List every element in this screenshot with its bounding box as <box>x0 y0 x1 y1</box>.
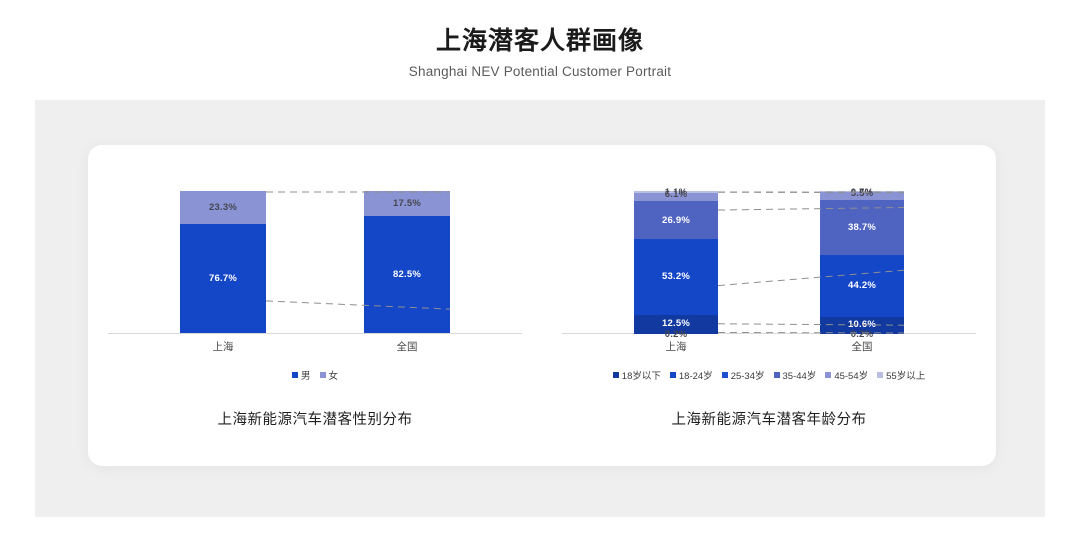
legend-item-18-24岁[interactable]: 18-24岁 <box>670 368 713 382</box>
segment-45-54岁[interactable]: 6.1% <box>634 193 718 202</box>
segment-value-label: 5.5% <box>851 189 873 199</box>
category-label-全国: 全国 <box>820 339 904 354</box>
segment-value-label: 53.2% <box>662 272 690 282</box>
connector-lines <box>100 191 530 335</box>
legend-label: 男 <box>301 368 311 382</box>
plot-area-age: 1.1%6.1%26.9%53.2%12.5%0.2%0.7%5.5%38.7%… <box>554 191 984 334</box>
legend-label: 18岁以下 <box>622 368 661 382</box>
page-subtitle: Shanghai NEV Potential Customer Portrait <box>0 64 1080 79</box>
category-labels: 上海全国 <box>100 339 530 359</box>
legend-label: 45-54岁 <box>834 368 868 382</box>
page-title: 上海潜客人群画像 <box>0 26 1080 57</box>
charts-card: 23.3%76.7%17.5%82.5%上海全国男女上海新能源汽车潜客性别分布1… <box>88 145 996 466</box>
chart-gender: 23.3%76.7%17.5%82.5%上海全国男女上海新能源汽车潜客性别分布 <box>88 145 542 466</box>
legend-item-25-34岁[interactable]: 25-34岁 <box>722 368 765 382</box>
legend-swatch-icon <box>825 372 831 378</box>
page-header: 上海潜客人群画像 Shanghai NEV Potential Customer… <box>0 0 1080 79</box>
legend-label: 55岁以上 <box>886 368 925 382</box>
segment-男[interactable]: 82.5% <box>364 216 450 333</box>
chart-age: 1.1%6.1%26.9%53.2%12.5%0.2%0.7%5.5%38.7%… <box>542 145 996 466</box>
legend-swatch-icon <box>877 372 883 378</box>
legend-item-45-54岁[interactable]: 45-54岁 <box>825 368 868 382</box>
stacked-bar-gender-全国[interactable]: 17.5%82.5% <box>364 191 450 333</box>
legend-item-18岁以下[interactable]: 18岁以下 <box>613 368 661 382</box>
chart-caption-gender: 上海新能源汽车潜客性别分布 <box>218 408 413 429</box>
chart-caption-age: 上海新能源汽车潜客年龄分布 <box>672 408 867 429</box>
stacked-bar-age-上海[interactable]: 1.1%6.1%26.9%53.2%12.5%0.2% <box>634 191 718 333</box>
legend-label: 35-44岁 <box>783 368 817 382</box>
legend-swatch-icon <box>613 372 619 378</box>
segment-25-34岁[interactable]: 53.2% <box>634 239 718 315</box>
connector-lines <box>554 191 984 335</box>
legend-swatch-icon <box>774 372 780 378</box>
segment-value-label: 23.3% <box>209 203 237 213</box>
legend-item-55岁以上[interactable]: 55岁以上 <box>877 368 925 382</box>
segment-男[interactable]: 76.7% <box>180 224 266 333</box>
plot-area-gender: 23.3%76.7%17.5%82.5% <box>100 191 530 334</box>
page-root: 上海潜客人群画像 Shanghai NEV Potential Customer… <box>0 0 1080 547</box>
segment-45-54岁[interactable]: 5.5% <box>820 192 904 200</box>
segment-value-label: 0.2% <box>851 330 873 340</box>
legend-item-男[interactable]: 男 <box>292 368 311 382</box>
legend-item-女[interactable]: 女 <box>320 368 339 382</box>
segment-value-label: 76.7% <box>209 274 237 284</box>
category-label-上海: 上海 <box>180 339 266 354</box>
legend-swatch-icon <box>670 372 676 378</box>
segment-value-label: 0.2% <box>665 330 687 340</box>
stacked-bar-gender-上海[interactable]: 23.3%76.7% <box>180 191 266 333</box>
segment-女[interactable]: 17.5% <box>364 191 450 216</box>
category-label-上海: 上海 <box>634 339 718 354</box>
x-axis-line <box>108 333 522 334</box>
segment-女[interactable]: 23.3% <box>180 191 266 224</box>
segment-value-label: 38.7% <box>848 223 876 233</box>
segment-value-label: 6.1% <box>665 190 687 200</box>
category-labels: 上海全国 <box>554 339 984 359</box>
charts-row: 23.3%76.7%17.5%82.5%上海全国男女上海新能源汽车潜客性别分布1… <box>88 145 996 466</box>
legend-label: 18-24岁 <box>679 368 713 382</box>
category-label-全国: 全国 <box>364 339 450 354</box>
stacked-bar-age-全国[interactable]: 0.7%5.5%38.7%44.2%10.6%0.2% <box>820 191 904 333</box>
legend-swatch-icon <box>722 372 728 378</box>
x-axis-line <box>562 333 976 334</box>
segment-35-44岁[interactable]: 26.9% <box>634 201 718 239</box>
legend-label: 25-34岁 <box>731 368 765 382</box>
legend-item-35-44岁[interactable]: 35-44岁 <box>774 368 817 382</box>
segment-value-label: 82.5% <box>393 270 421 280</box>
segment-25-34岁[interactable]: 44.2% <box>820 255 904 318</box>
legend-swatch-icon <box>292 372 298 378</box>
legend-gender: 男女 <box>292 368 338 382</box>
legend-swatch-icon <box>320 372 326 378</box>
segment-value-label: 44.2% <box>848 281 876 291</box>
legend-label: 女 <box>329 368 339 382</box>
segment-value-label: 12.5% <box>662 319 690 329</box>
segment-value-label: 17.5% <box>393 199 421 209</box>
segment-value-label: 26.9% <box>662 216 690 226</box>
segment-35-44岁[interactable]: 38.7% <box>820 200 904 255</box>
legend-age: 18岁以下18-24岁25-34岁35-44岁45-54岁55岁以上 <box>613 368 925 382</box>
